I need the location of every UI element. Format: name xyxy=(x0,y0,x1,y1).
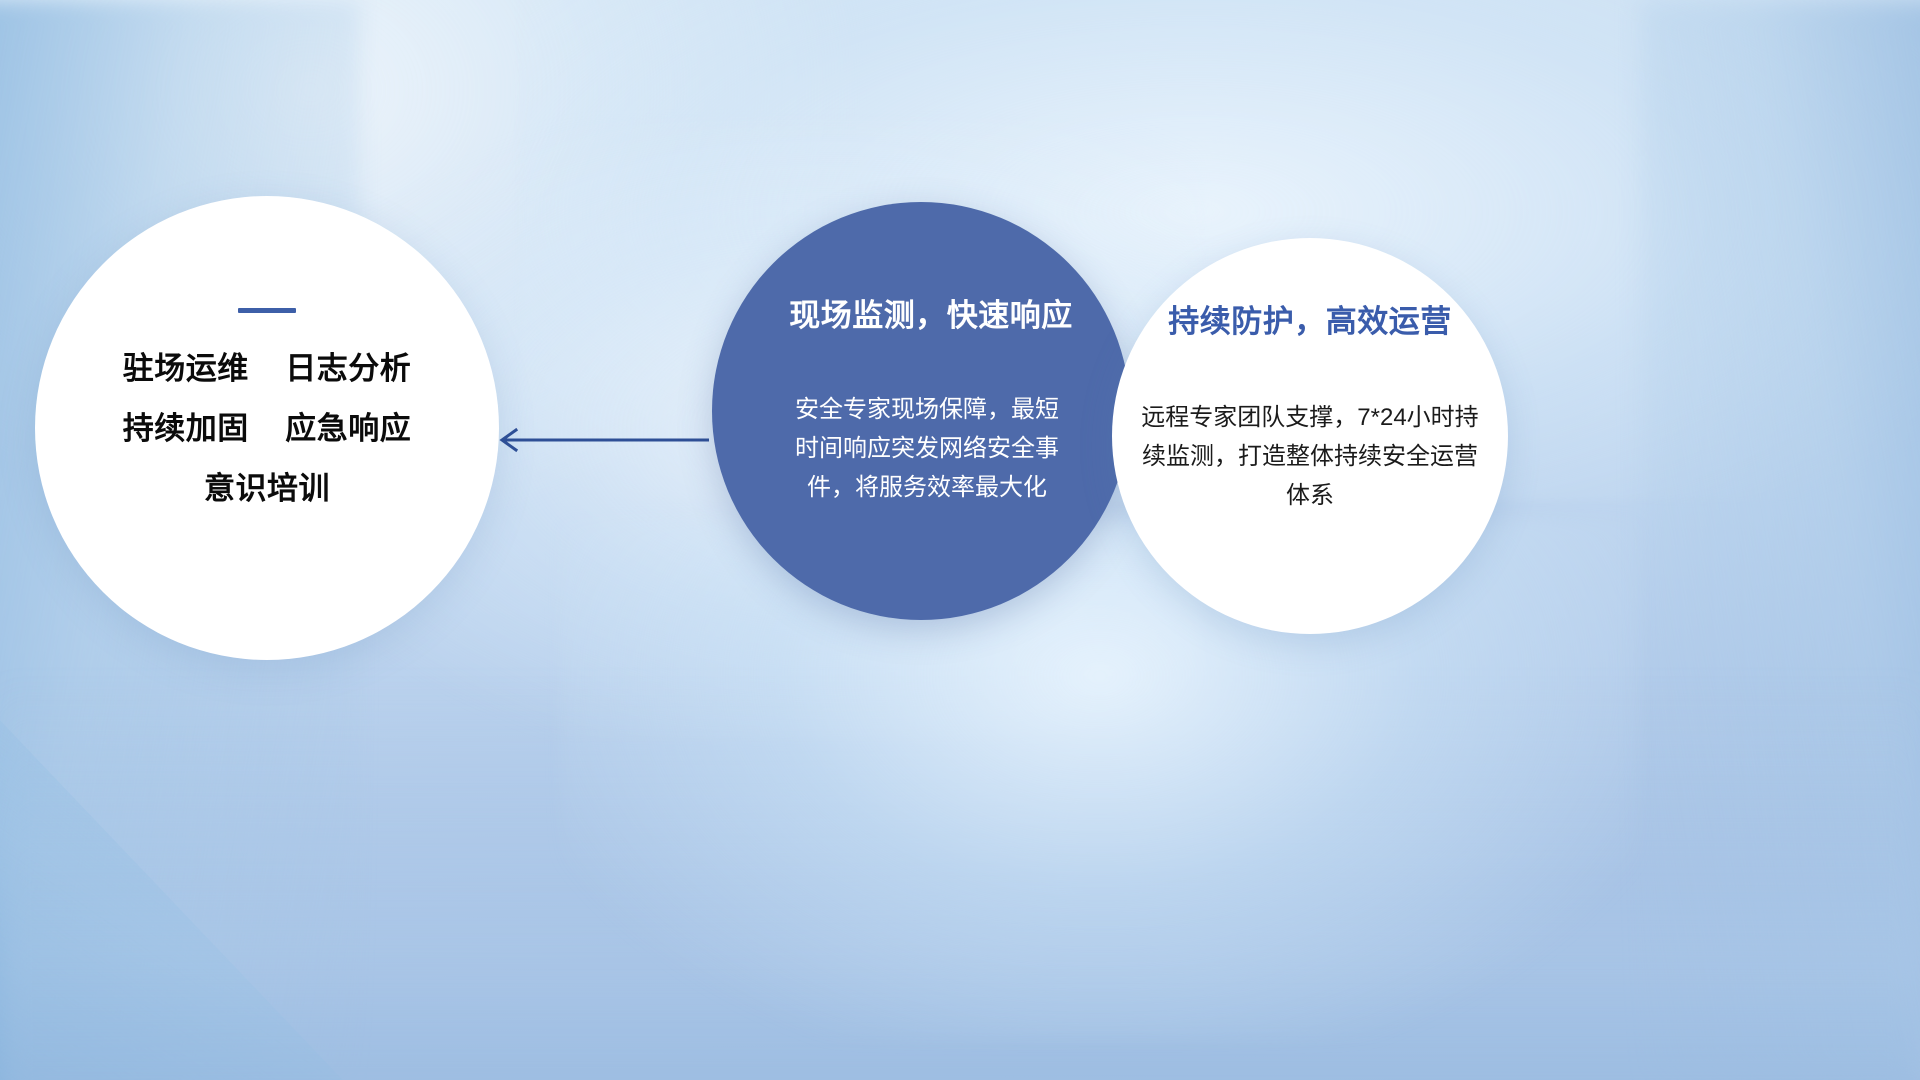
onsite-monitoring-body: 安全专家现场保障，最短时间响应突发网络安全事件，将服务效率最大化 xyxy=(791,391,1063,508)
onsite-monitoring-title: 现场监测，快速响应 xyxy=(789,290,1073,335)
divider-dash-icon xyxy=(238,308,296,313)
continuous-protection-title: 持续防护，高效运营 xyxy=(1168,296,1452,341)
capability-line-2: 持续加固 应急响应 xyxy=(123,413,411,444)
continuous-protection-circle: 持续防护，高效运营 远程专家团队支撑，7*24小时持续监测，打造整体持续安全运营… xyxy=(1112,238,1508,634)
onsite-monitoring-content: 现场监测，快速响应 安全专家现场保障，最短时间响应突发网络安全事件，将服务效率最… xyxy=(712,202,1130,620)
capability-line-1: 驻场运维 日志分析 xyxy=(123,353,411,384)
service-capability-content: 驻场运维 日志分析 持续加固 应急响应 意识培训 xyxy=(35,196,499,660)
capability-line-3: 意识培训 xyxy=(204,473,330,504)
onsite-monitoring-circle: 现场监测，快速响应 安全专家现场保障，最短时间响应突发网络安全事件，将服务效率最… xyxy=(712,202,1130,620)
continuous-protection-body: 远程专家团队支撑，7*24小时持续监测，打造整体持续安全运营体系 xyxy=(1134,399,1486,516)
connector-arrow-left-icon xyxy=(494,425,710,455)
service-capability-circle: 驻场运维 日志分析 持续加固 应急响应 意识培训 xyxy=(35,196,499,660)
continuous-protection-content: 持续防护，高效运营 远程专家团队支撑，7*24小时持续监测，打造整体持续安全运营… xyxy=(1112,238,1508,634)
slide-canvas: 驻场运维 日志分析 持续加固 应急响应 意识培训 现场监测，快速响应 安全专家现… xyxy=(0,0,1920,1080)
